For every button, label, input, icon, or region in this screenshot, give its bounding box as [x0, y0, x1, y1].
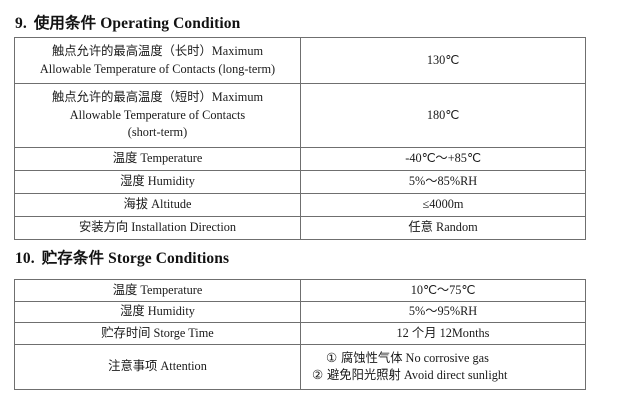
table-row: 触点允许的最高温度（短时）MaximumAllowable Temperatur…	[15, 84, 586, 148]
row-value-cell: 任意 Random	[301, 217, 586, 240]
cell-line: 安装方向 Installation Direction	[18, 219, 297, 236]
row-value-cell: 12 个月 12Months	[301, 323, 586, 345]
table-row: 触点允许的最高温度（长时）MaximumAllowable Temperatur…	[15, 38, 586, 84]
storge-conditions-table-wrap: 温度 Temperature10℃～75℃湿度 Humidity5%～95%RH…	[14, 279, 586, 390]
row-value-cell: ①腐蚀性气体 No corrosive gas②避免阳光照射 Avoid dir…	[301, 345, 586, 390]
row-label-cell: 贮存时间 Storge Time	[15, 323, 301, 345]
cell-line: 湿度 Humidity	[18, 303, 297, 320]
section-number: 9.	[15, 15, 27, 33]
row-label-cell: 温度 Temperature	[15, 280, 301, 302]
cell-line: 5%～95%RH	[304, 303, 582, 320]
row-value-cell: -40℃～+85℃	[301, 148, 586, 171]
table-row: 湿度 Humidity5%～95%RH	[15, 302, 586, 323]
document-page: 9.使用条件Operating Condition 触点允许的最高温度（长时）M…	[0, 0, 617, 419]
list-marker-icon: ②	[312, 367, 327, 384]
operating-condition-table: 触点允许的最高温度（长时）MaximumAllowable Temperatur…	[14, 37, 586, 240]
section-title-cn: 使用条件	[34, 15, 96, 32]
table-row: 湿度 Humidity5%～85%RH	[15, 171, 586, 194]
table-row: 温度 Temperature-40℃～+85℃	[15, 148, 586, 171]
cell-line: 海拔 Altitude	[18, 196, 297, 213]
cell-line: 10℃～75℃	[304, 282, 582, 299]
row-label-cell: 触点允许的最高温度（短时）MaximumAllowable Temperatur…	[15, 84, 301, 148]
row-value-cell: 5%～85%RH	[301, 171, 586, 194]
section-heading-9: 9.使用条件Operating Condition	[15, 11, 240, 33]
cell-line: 温度 Temperature	[18, 282, 297, 299]
cell-line: 12 个月 12Months	[304, 325, 582, 342]
row-value-cell: 180℃	[301, 84, 586, 148]
table-row: 海拔 Altitude≤4000m	[15, 194, 586, 217]
cell-line: 湿度 Humidity	[18, 173, 297, 190]
cell-line: ≤4000m	[304, 196, 582, 213]
section-title-en: Storge Conditions	[108, 250, 229, 267]
table-row: 注意事项 Attention①腐蚀性气体 No corrosive gas②避免…	[15, 345, 586, 390]
cell-line: ②避免阳光照射 Avoid direct sunlight	[312, 367, 582, 384]
cell-line: -40℃～+85℃	[304, 150, 582, 167]
operating-condition-table-wrap: 触点允许的最高温度（长时）MaximumAllowable Temperatur…	[14, 37, 586, 240]
cell-line: ①腐蚀性气体 No corrosive gas	[326, 350, 582, 367]
section-heading-10: 10.贮存条件Storge Conditions	[15, 246, 229, 268]
cell-line: 130℃	[304, 52, 582, 69]
row-label-cell: 触点允许的最高温度（长时）MaximumAllowable Temperatur…	[15, 38, 301, 84]
row-label-cell: 温度 Temperature	[15, 148, 301, 171]
list-marker-icon: ①	[326, 350, 341, 367]
row-label-cell: 安装方向 Installation Direction	[15, 217, 301, 240]
row-label-cell: 湿度 Humidity	[15, 302, 301, 323]
cell-line: (short-term)	[18, 124, 297, 141]
table-row: 贮存时间 Storge Time12 个月 12Months	[15, 323, 586, 345]
row-value-cell: 130℃	[301, 38, 586, 84]
row-value-cell: 5%～95%RH	[301, 302, 586, 323]
table-body: 温度 Temperature10℃～75℃湿度 Humidity5%～95%RH…	[15, 280, 586, 390]
cell-line: Allowable Temperature of Contacts	[18, 107, 297, 124]
section-title-cn: 贮存条件	[42, 250, 104, 267]
row-value-cell: 10℃～75℃	[301, 280, 586, 302]
cell-line: 触点允许的最高温度（短时）Maximum	[18, 89, 297, 106]
section-title-en: Operating Condition	[100, 15, 240, 32]
storge-conditions-table: 温度 Temperature10℃～75℃湿度 Humidity5%～95%RH…	[14, 279, 586, 390]
table-row: 安装方向 Installation Direction任意 Random	[15, 217, 586, 240]
cell-line: 温度 Temperature	[18, 150, 297, 167]
row-label-cell: 注意事项 Attention	[15, 345, 301, 390]
section-number: 10.	[15, 250, 35, 268]
cell-line: 180℃	[304, 107, 582, 124]
row-value-cell: ≤4000m	[301, 194, 586, 217]
cell-line: Allowable Temperature of Contacts (long-…	[18, 61, 297, 78]
row-label-cell: 海拔 Altitude	[15, 194, 301, 217]
cell-line: 触点允许的最高温度（长时）Maximum	[18, 43, 297, 60]
row-label-cell: 湿度 Humidity	[15, 171, 301, 194]
cell-line: 注意事项 Attention	[18, 358, 297, 375]
cell-line: 任意 Random	[304, 219, 582, 236]
cell-line: 5%～85%RH	[304, 173, 582, 190]
table-row: 温度 Temperature10℃～75℃	[15, 280, 586, 302]
table-body: 触点允许的最高温度（长时）MaximumAllowable Temperatur…	[15, 38, 586, 240]
cell-line: 贮存时间 Storge Time	[18, 325, 297, 342]
